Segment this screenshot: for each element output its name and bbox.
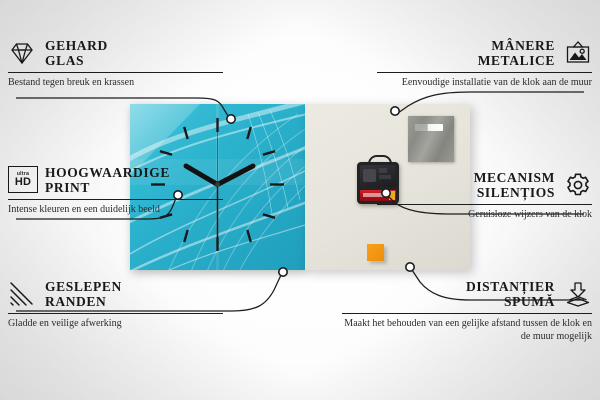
feature-title-line2: PRINT [45,180,90,195]
framed-picture-icon [564,39,592,67]
infographic-canvas: GEHARD GLAS Bestand tegen breuk en krass… [0,0,600,400]
hanger-slot [415,124,443,131]
feature-title-line2: GLAS [45,53,84,68]
feature-divider [8,72,223,73]
feature-gehard-glas: GEHARD GLAS Bestand tegen breuk en krass… [8,38,223,90]
feature-manere-metalice: MÂNERE METALICE Eenvoudige installatie v… [377,38,592,90]
feature-title-line2: SPUMĂ [504,294,555,309]
feature-description: Geruisloze wijzers van de klok [377,209,592,222]
feature-divider [8,199,223,200]
ultra-hd-icon: ultraHD [8,166,36,194]
feature-divider [8,313,223,314]
feature-divider [342,313,592,314]
feature-title-line1: MECANISM [474,170,555,185]
feature-title-line2: SILENȚIOS [477,185,555,200]
foam-spacer-icon [564,280,592,308]
feature-description: Bestand tegen breuk en krassen [8,77,223,90]
feature-hoogwaardige-print: ultraHD HOOGWAARDIGE PRINT Intense kleur… [8,165,223,217]
feature-geslepen-randen: GESLEPEN RANDEN Gladde en veilige afwerk… [8,279,223,331]
feature-description: Gladde en veilige afwerking [8,318,223,331]
feature-title-line1: MÂNERE [491,38,555,53]
metal-hanger-plate [408,116,454,162]
feature-title-line1: GESLEPEN [45,279,122,294]
feature-title-line2: METALICE [478,53,555,68]
feature-title-line1: DISTANȚIER [466,279,555,294]
feature-divider [377,72,592,73]
feature-title-line1: HOOGWAARDIGE [45,165,170,180]
feature-mecanism-silentios: MECANISM SILENȚIOS Geruisloze wijzers va… [377,170,592,222]
feature-description: Intense kleuren en een duidelijk beeld [8,204,223,217]
orange-foam-spacer [367,244,384,261]
beveled-edges-icon [8,280,36,308]
gear-icon [564,171,592,199]
feature-description: Eenvoudige installatie van de klok aan d… [377,77,592,90]
feature-title-line1: GEHARD [45,38,108,53]
feature-divider [377,204,592,205]
diamond-icon [8,39,36,67]
feature-distantier-spuma: DISTANȚIER SPUMĂ Maakt het behouden van … [342,279,592,343]
feature-description: Maakt het behouden van een gelijke afsta… [342,318,592,343]
feature-title-line2: RANDEN [45,294,106,309]
